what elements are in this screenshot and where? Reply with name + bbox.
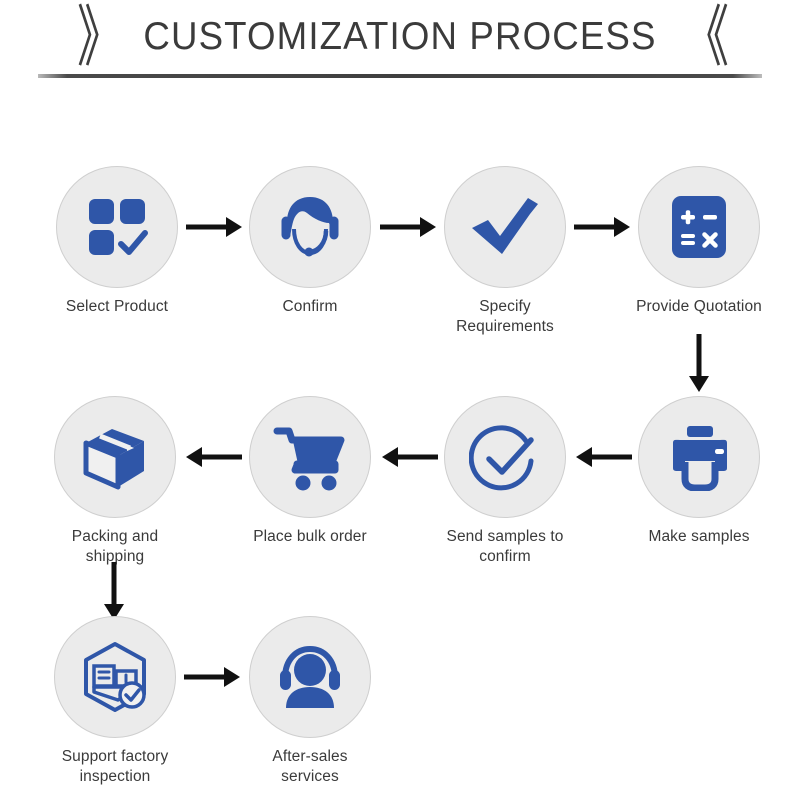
step-label: Specify Requirements xyxy=(440,297,570,337)
step-icon-bubble xyxy=(249,166,371,288)
step-label: Make samples xyxy=(634,527,764,547)
shopping-cart-icon xyxy=(273,423,347,491)
step-label: After-sales services xyxy=(245,747,375,787)
check-mark-icon xyxy=(468,192,542,262)
flow-step-make-samples[interactable]: Make samples xyxy=(634,396,764,547)
step-icon-bubble xyxy=(54,396,176,518)
headset-person-icon xyxy=(274,644,346,710)
flow-step-provide-quotation[interactable]: Provide Quotation xyxy=(634,166,764,317)
connector-arrow-right xyxy=(378,213,438,241)
step-icon-bubble xyxy=(638,166,760,288)
chevron-right-decoration-icon: 》 xyxy=(77,4,117,71)
title-divider xyxy=(38,74,762,78)
flow-step-confirm[interactable]: Confirm xyxy=(245,166,375,317)
step-icon-bubble xyxy=(249,616,371,738)
page-header: 》 CUSTOMIZATION PROCESS 《 xyxy=(0,0,800,95)
support-agent-icon xyxy=(274,191,346,263)
step-icon-bubble xyxy=(444,166,566,288)
connector-arrow-right xyxy=(184,213,244,241)
step-label: Send samples to confirm xyxy=(440,527,570,567)
printer-icon xyxy=(663,423,735,491)
connector-arrow-right xyxy=(572,213,632,241)
step-icon-bubble xyxy=(444,396,566,518)
calculator-icon xyxy=(666,192,732,262)
step-icon-bubble xyxy=(249,396,371,518)
connector-arrow-down xyxy=(100,560,128,622)
connector-arrow-left xyxy=(572,443,634,471)
step-label: Place bulk order xyxy=(245,527,375,547)
step-label: Support factory inspection xyxy=(50,747,180,787)
factory-inspection-icon xyxy=(78,640,152,714)
flow-step-specify-requirements[interactable]: Specify Requirements xyxy=(440,166,570,337)
page-title: CUSTOMIZATION PROCESS xyxy=(143,17,656,57)
chevron-left-decoration-icon: 《 xyxy=(683,4,723,71)
step-label: Confirm xyxy=(245,297,375,317)
grid-check-icon xyxy=(83,193,151,261)
step-label: Select Product xyxy=(52,297,182,317)
step-label: Provide Quotation xyxy=(634,297,764,317)
step-icon-bubble xyxy=(54,616,176,738)
step-icon-bubble xyxy=(56,166,178,288)
connector-arrow-right xyxy=(182,663,242,691)
flow-step-send-samples-to-confirm[interactable]: Send samples to confirm xyxy=(440,396,570,567)
package-box-icon xyxy=(78,421,152,493)
flow-step-packing-and-shipping[interactable]: Packing and shipping xyxy=(50,396,180,567)
flow-step-place-bulk-order[interactable]: Place bulk order xyxy=(245,396,375,547)
flow-step-support-factory-inspection[interactable]: Support factory inspection xyxy=(50,616,180,787)
check-circle-icon xyxy=(469,421,541,493)
title-row: 》 CUSTOMIZATION PROCESS 《 xyxy=(0,8,800,66)
flow-step-select-product[interactable]: Select Product xyxy=(52,166,182,317)
connector-arrow-left xyxy=(182,443,244,471)
connector-arrow-left xyxy=(378,443,440,471)
step-icon-bubble xyxy=(638,396,760,518)
connector-arrow-down xyxy=(685,332,713,394)
flow-step-after-sales-services[interactable]: After-sales services xyxy=(245,616,375,787)
